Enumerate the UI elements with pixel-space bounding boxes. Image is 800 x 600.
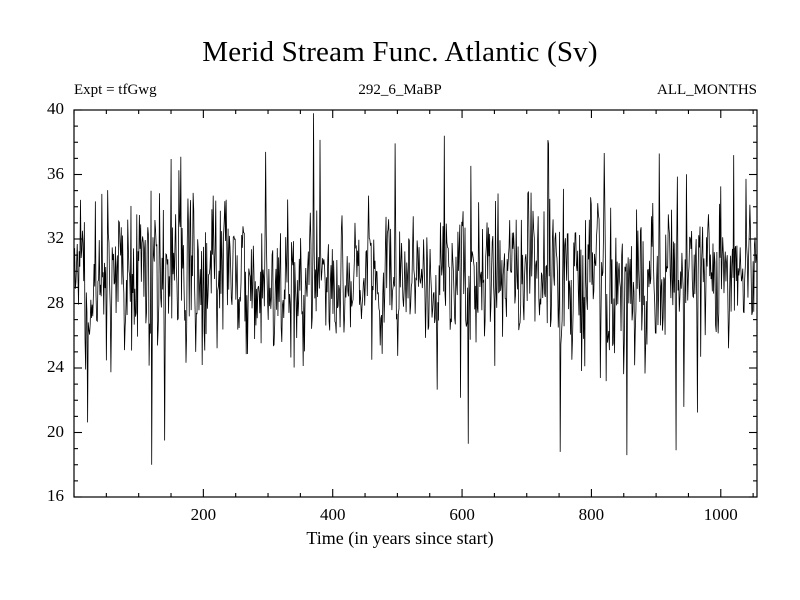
y-tick-label: 36 <box>16 164 64 184</box>
x-axis-title: Time (in years since start) <box>0 528 800 549</box>
x-tick-label: 800 <box>551 505 631 525</box>
y-tick-label: 32 <box>16 228 64 248</box>
x-tick-label: 1000 <box>681 505 761 525</box>
x-tick-label: 200 <box>163 505 243 525</box>
y-tick-label: 24 <box>16 357 64 377</box>
y-tick-label: 20 <box>16 422 64 442</box>
x-tick-label: 400 <box>293 505 373 525</box>
data-series-line <box>74 113 757 465</box>
y-tick-label: 40 <box>16 99 64 119</box>
y-tick-label: 28 <box>16 293 64 313</box>
chart-figure: Merid Stream Func. Atlantic (Sv) Expt = … <box>0 0 800 600</box>
y-tick-label: 16 <box>16 486 64 506</box>
x-tick-label: 600 <box>422 505 502 525</box>
